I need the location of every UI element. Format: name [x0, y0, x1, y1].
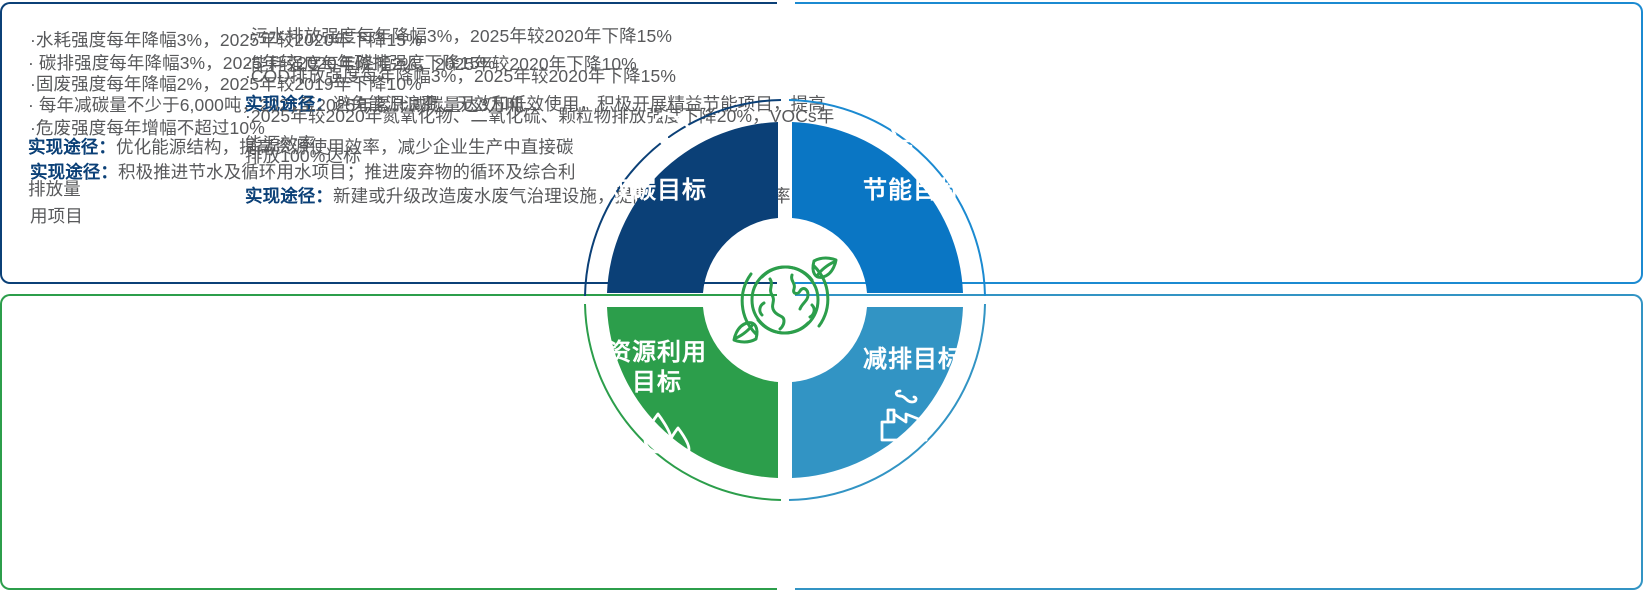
achievement-path-label: 实现途径： — [30, 162, 118, 182]
panel-emission-reduction-body: ·污水排放强度每年降幅3%，2025年较2020年下降15% ·COD排放强度每… — [245, 16, 835, 216]
achievement-path: 实现途径：新建或升级改造废水废气治理设施，提高环保设施运行效率 — [245, 176, 835, 216]
quadrant-label-dual-carbon: 双碳目标 — [582, 176, 732, 206]
lightbulb-icon — [872, 96, 936, 160]
achievement-path-label: 实现途径： — [245, 186, 333, 206]
bullet-line: ·污水排放强度每年降幅3%，2025年较2020年下降15% — [245, 16, 835, 56]
water-droplets-icon — [634, 404, 698, 468]
globe-leaves-icon — [726, 241, 844, 359]
bullet-line: ·COD排放强度每年降幅3%，2025年较2020年下降15% — [245, 56, 835, 96]
factory-icon — [872, 388, 936, 452]
infographic-canvas: · 碳排强度每年降幅3%，2025年较2020年碳排强度下降15% · 每年减碳… — [0, 0, 1643, 596]
quadrant-label-emission-reduction: 减排目标 — [838, 345, 988, 375]
bullet-line: ·2025年较2020年氮氧化物、二氧化硫、颗粒物排放强度下降20%，VOCs年… — [245, 96, 835, 176]
quadrant-label-resource-use: 资源利用 目标 — [582, 338, 732, 398]
cloud-down-arrow-icon — [634, 100, 698, 164]
quadrant-label-energy-saving: 节能目标 — [838, 176, 988, 206]
